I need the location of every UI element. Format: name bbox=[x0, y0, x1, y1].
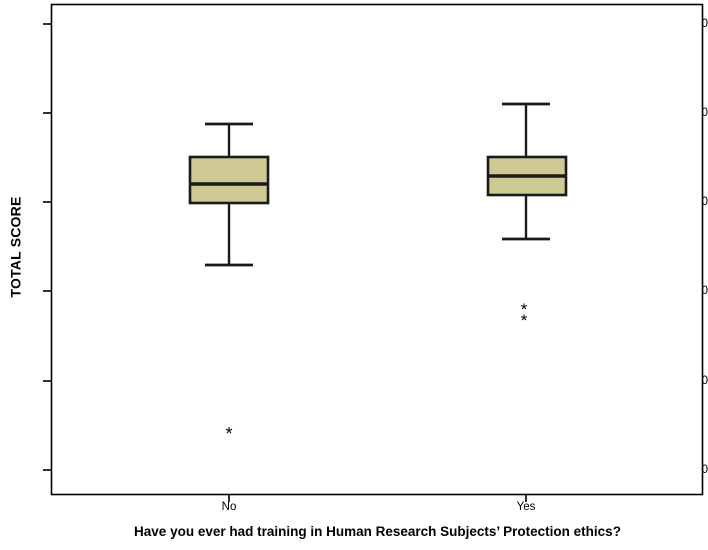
box-body-no bbox=[190, 157, 268, 203]
plot-canvas: * * * bbox=[0, 0, 708, 550]
boxplot-chart: TOTAL SCORE 70 60 50 40 30 20 No Yes bbox=[0, 0, 708, 550]
plot-frame bbox=[52, 5, 703, 495]
y-axis-ticks bbox=[43, 24, 51, 470]
outlier-marker-no: * bbox=[225, 424, 232, 444]
outlier-marker-yes-2: * bbox=[521, 311, 528, 330]
x-axis-title: Have you ever had training in Human Rese… bbox=[51, 524, 704, 539]
